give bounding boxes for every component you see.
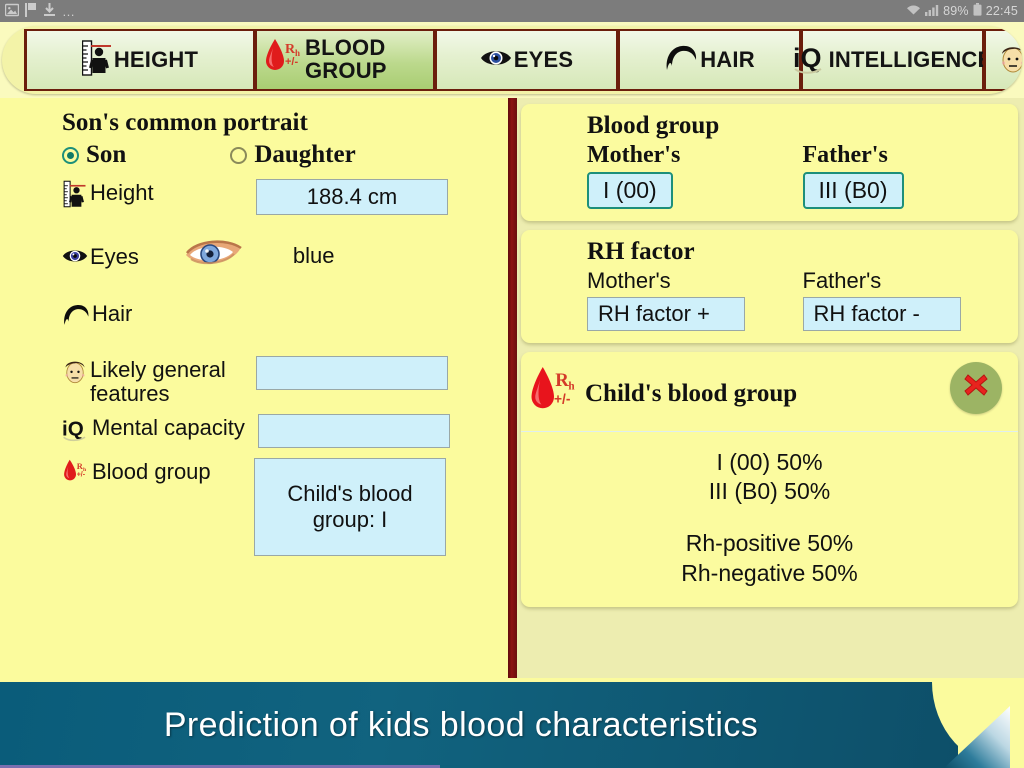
page-curl-decoration [932, 682, 1010, 768]
radio-son[interactable]: Son [62, 141, 126, 169]
battery-icon [973, 3, 982, 19]
row-height: Height 188.4 cm [0, 179, 508, 215]
radio-daughter[interactable]: Daughter [230, 141, 355, 169]
blood-group-parents: Mother's I (00) Father's III (B0) [521, 142, 1018, 209]
card-blood-group-title: Blood group [521, 112, 1018, 141]
result-line-3: Rh-positive 50% [521, 529, 1018, 559]
radio-daughter-circle [230, 147, 247, 164]
row-eyes: Eyes blue [0, 233, 508, 278]
radio-daughter-label: Daughter [254, 141, 355, 169]
label-hair: Hair [92, 300, 132, 326]
tab-height[interactable]: HEIGHT [24, 29, 256, 91]
download-icon [43, 3, 56, 20]
tab-bar[interactable]: HEIGHT R h +/- BLOOD GROUP [2, 26, 1022, 94]
result-spacer [521, 507, 1018, 529]
field-blood-group[interactable]: Child's blood group: I [254, 458, 446, 556]
iq-icon: iQ [62, 414, 90, 444]
child-card-header: R h +/- Child's blood group [521, 360, 1018, 432]
right-panel: Blood group Mother's I (00) Father's III… [517, 98, 1024, 678]
label-blood-group: Blood group [92, 458, 248, 484]
card-blood-group: Blood group Mother's I (00) Father's III… [521, 104, 1018, 221]
rh-father-label: Father's [803, 268, 1019, 294]
face-icon [62, 356, 88, 386]
value-eyes: blue [293, 243, 335, 269]
result-line-4: Rh-negative 50% [521, 559, 1018, 589]
eye-icon [480, 47, 512, 74]
battery-percent: 89% [943, 4, 969, 18]
tab-intelligence[interactable]: iQ INTELLIGENCE [800, 29, 985, 91]
rh-mother-label: Mother's [587, 268, 803, 294]
field-mental-capacity[interactable] [258, 414, 450, 448]
left-panel: Son's common portrait Son Daughter [0, 98, 508, 678]
face-icon [998, 41, 1022, 80]
rh-father-value[interactable]: RH factor - [803, 297, 961, 331]
height-ruler-icon [62, 179, 88, 209]
status-overflow: … [62, 4, 76, 19]
ad-banner-body[interactable]: Prediction of kids blood characteristics [0, 682, 958, 768]
row-general-features: Likely general features [0, 356, 508, 406]
row-hair: Hair [0, 300, 508, 334]
status-clock: 22:45 [986, 4, 1018, 18]
blood-drop-rh-icon: R h +/- [263, 36, 303, 85]
blood-group-mother-label: Mother's [587, 142, 803, 169]
svg-text:+/-: +/- [285, 56, 298, 68]
child-results: I (00) 50% III (B0) 50% Rh-positive 50% … [521, 432, 1018, 590]
blood-group-mother-col: Mother's I (00) [587, 142, 803, 209]
rh-father-col: Father's RH factor - [803, 268, 1019, 331]
blood-group-father-label: Father's [803, 142, 1019, 169]
main-content: Son's common portrait Son Daughter [0, 98, 1024, 678]
label-mental-capacity: Mental capacity [92, 414, 252, 440]
rh-mother-col: Mother's RH factor + [587, 268, 803, 331]
ad-banner[interactable]: Prediction of kids blood characteristics [0, 678, 1024, 768]
hair-icon [62, 300, 90, 330]
label-general-features: Likely general features [90, 356, 250, 406]
status-bar-right: 89% 22:45 [906, 3, 1024, 19]
blood-group-father-value[interactable]: III (B0) [803, 172, 904, 209]
eye-photo [183, 233, 245, 278]
hair-icon [664, 44, 698, 77]
blood-group-father-col: Father's III (B0) [803, 142, 1019, 209]
card-child-blood-group-title: Child's blood group [579, 380, 797, 409]
blood-group-mother-value[interactable]: I (00) [587, 172, 673, 209]
tab-eyes-label: EYES [514, 49, 574, 72]
image-icon [5, 3, 19, 20]
eye-icon [62, 241, 88, 271]
result-line-1: I (00) 50% [521, 448, 1018, 478]
card-rh-factor-title: RH factor [521, 238, 1018, 267]
row-blood-group: R h +/- Blood group Child's blood group:… [0, 458, 508, 556]
tab-lips[interactable]: L [983, 29, 1022, 91]
svg-text:iQ: iQ [62, 417, 84, 440]
label-eyes: Eyes [90, 243, 139, 269]
tab-eyes[interactable]: EYES [434, 29, 619, 91]
close-button[interactable] [950, 362, 1002, 414]
card-child-blood-group: R h +/- Child's blood group [521, 352, 1018, 608]
app-root: … 89% 22:45 [0, 0, 1024, 768]
blood-drop-rh-icon: R h +/- [62, 458, 90, 488]
radio-son-circle [62, 147, 79, 164]
card-rh-factor: RH factor Mother's RH factor + Father's … [521, 230, 1018, 343]
tab-hair-label: HAIR [700, 49, 755, 72]
tab-blood-group-label: BLOOD GROUP [305, 37, 427, 83]
svg-text:+/-: +/- [554, 391, 571, 406]
tab-blood-group[interactable]: R h +/- BLOOD GROUP [254, 29, 436, 91]
field-general-features[interactable] [256, 356, 448, 390]
svg-text:R: R [555, 369, 569, 390]
status-bar: … 89% 22:45 [0, 0, 1024, 22]
close-x-icon [961, 370, 991, 405]
svg-text:+/-: +/- [77, 471, 86, 478]
rh-factor-parents: Mother's RH factor + Father's RH factor … [521, 268, 1018, 331]
tab-intelligence-label: INTELLIGENCE [829, 49, 993, 72]
blood-drop-rh-icon: R h +/- [529, 364, 579, 425]
radio-son-label: Son [86, 141, 126, 169]
panel-divider [508, 98, 517, 678]
status-bar-left: … [0, 3, 76, 20]
svg-text:iQ: iQ [793, 43, 822, 73]
wifi-icon [906, 4, 921, 19]
rh-mother-value[interactable]: RH factor + [587, 297, 745, 331]
signal-icon [925, 4, 939, 19]
ad-banner-text: Prediction of kids blood characteristics [164, 706, 758, 745]
result-line-2: III (B0) 50% [521, 477, 1018, 507]
height-ruler-icon [82, 38, 112, 83]
gender-radio-group: Son Daughter [0, 141, 508, 169]
tab-hair[interactable]: HAIR [617, 29, 802, 91]
label-height: Height [90, 179, 250, 205]
flag-icon [25, 3, 37, 20]
row-mental-capacity: iQ Mental capacity [0, 414, 508, 448]
iq-icon: iQ [793, 39, 827, 82]
field-height[interactable]: 188.4 cm [256, 179, 448, 215]
page-title: Son's common portrait [0, 108, 508, 138]
tab-bar-container: HEIGHT R h +/- BLOOD GROUP [0, 22, 1024, 98]
tab-height-label: HEIGHT [114, 49, 198, 72]
